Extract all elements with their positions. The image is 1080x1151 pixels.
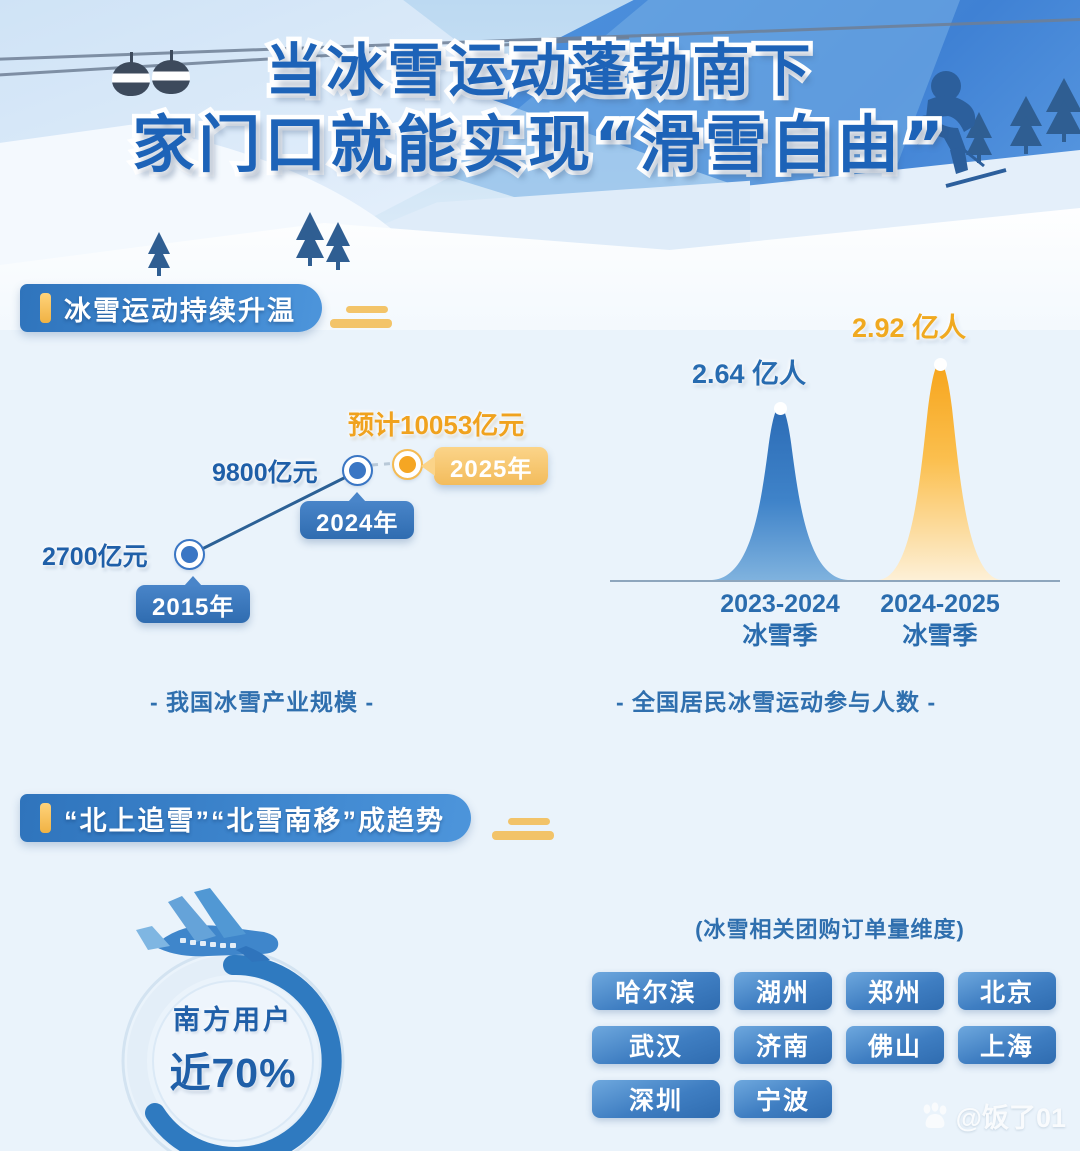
airplane-icon	[96, 884, 296, 1004]
data-point-2015[interactable]	[176, 541, 203, 568]
section-heading-southward: “北上追雪”“北雪南移”成趋势	[20, 794, 471, 842]
participation-chart-caption: - 全国居民冰雪运动参与人数 -	[616, 683, 936, 717]
industry-scale-line-chart: 预计10053亿元 9800亿元 2700亿元 2015年 2024年 2025…	[0, 395, 560, 645]
peak-chart-baseline	[610, 580, 1060, 582]
peak-shapes	[600, 330, 1070, 600]
peak-caption-2023-2024: 2023-2024 冰雪季	[692, 588, 868, 652]
industry-chart-caption: - 我国冰雪产业规模 -	[150, 683, 374, 717]
value-label-2025: 预计10053亿元	[348, 405, 524, 442]
title-line-2: 家门口就能实现“滑雪自由”	[0, 108, 1080, 182]
peak-tip-2023-2024	[774, 402, 787, 415]
peak-bar-2023-2024	[712, 404, 848, 580]
year-tag-2025[interactable]: 2025年	[434, 447, 548, 485]
city-tag[interactable]: 上海	[958, 1026, 1056, 1064]
city-tag[interactable]: 哈尔滨	[592, 972, 720, 1010]
baidu-paw-icon	[920, 1102, 950, 1130]
season-range-label: 2024-2025	[880, 590, 1000, 618]
season-word-label: 冰雪季	[742, 622, 817, 650]
city-tag[interactable]: 武汉	[592, 1026, 720, 1064]
city-tag[interactable]: 深圳	[592, 1080, 720, 1118]
data-point-2025[interactable]	[394, 451, 421, 478]
participation-peak-chart: 2.64 亿人 2.92 亿人 2023-2024 冰雪季 2024-2025 …	[600, 330, 1070, 650]
value-label-2015: 2700亿元	[42, 537, 148, 573]
badge-accent-bar	[40, 293, 51, 323]
section-heading-heating: 冰雪运动持续升温	[20, 284, 322, 332]
value-label-2024: 9800亿元	[212, 453, 318, 489]
season-word-label: 冰雪季	[902, 622, 977, 650]
data-point-2024[interactable]	[344, 457, 371, 484]
year-tag-2015[interactable]: 2015年	[136, 585, 250, 623]
watermark-handle: @饭了01	[956, 1096, 1066, 1135]
city-tag[interactable]: 北京	[958, 972, 1056, 1010]
peak-tip-2024-2025	[934, 358, 947, 371]
year-tag-2024[interactable]: 2024年	[300, 501, 414, 539]
badge-accent-bar	[40, 803, 51, 833]
pine-tree-icon	[148, 232, 170, 276]
city-tag[interactable]: 济南	[734, 1026, 832, 1064]
infographic-poster: 当冰雪运动蓬勃南下 家门口就能实现“滑雪自由” 冰雪运动持续升温 预计10053…	[0, 0, 1080, 1151]
pine-tree-icon	[326, 222, 350, 270]
badge-dash-marks	[330, 306, 392, 328]
peak-bar-2024-2025	[878, 360, 1002, 580]
season-range-label: 2023-2024	[720, 590, 840, 618]
title-line-1: 当冰雪运动蓬勃南下	[0, 34, 1080, 108]
city-tag[interactable]: 宁波	[734, 1080, 832, 1118]
city-tags-note: (冰雪相关团购订单量维度)	[600, 912, 1060, 944]
section-heading-label: “北上追雪”“北雪南移”成趋势	[64, 799, 445, 838]
peak-value-2024-2025: 2.92 亿人	[852, 306, 966, 345]
city-tag[interactable]: 郑州	[846, 972, 944, 1010]
section-heading-label: 冰雪运动持续升温	[64, 289, 296, 328]
watermark: @饭了01	[920, 1096, 1066, 1135]
pine-tree-icon	[296, 212, 324, 266]
badge-dash-marks	[492, 818, 554, 840]
poster-title: 当冰雪运动蓬勃南下 家门口就能实现“滑雪自由”	[0, 34, 1080, 182]
peak-value-2023-2024: 2.64 亿人	[692, 352, 806, 391]
city-tag[interactable]: 湖州	[734, 972, 832, 1010]
city-tag[interactable]: 佛山	[846, 1026, 944, 1064]
peak-caption-2024-2025: 2024-2025 冰雪季	[852, 588, 1028, 652]
